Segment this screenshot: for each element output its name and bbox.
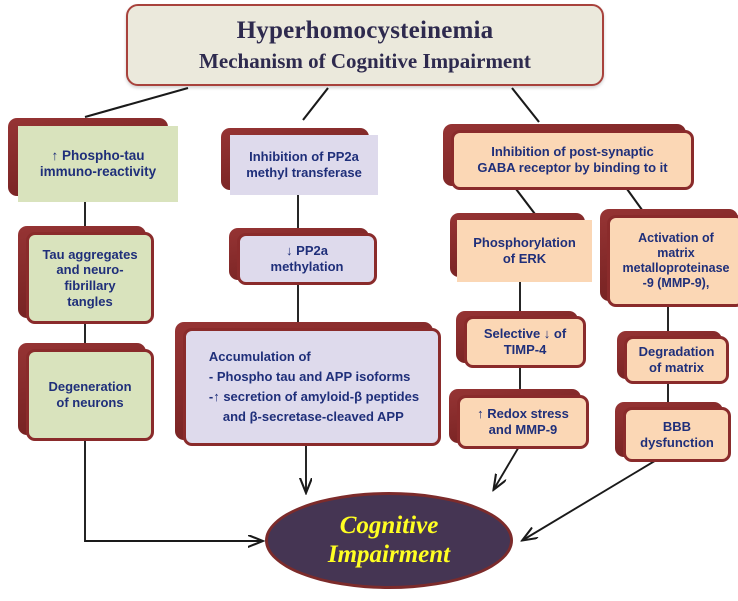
accumulation-head: Accumulation of <box>209 347 419 367</box>
node-text: Activation of matrix metalloproteinase -… <box>623 231 730 291</box>
node-text: Phosphorylation of ERK <box>473 235 576 266</box>
node-phospho-tau-immunoreactivity[interactable]: ↑ Phospho-tau immuno-reactivity <box>18 126 178 202</box>
node-redox-stress-mmp9[interactable]: ↑ Redox stress and MMP-9 <box>457 395 589 449</box>
pp2a-inh-line-2: methyl transferase <box>246 165 362 181</box>
node-text: Degeneration of neurons <box>48 379 131 410</box>
title-line-1: Hyperhomocysteinemia <box>237 17 494 45</box>
mmp9-line-3: metalloproteinase <box>623 261 730 276</box>
erk-line-2: of ERK <box>473 251 576 267</box>
tau-aggregates-line-2: and neuro- <box>42 262 137 278</box>
pp2a-inh-line-1: Inhibition of PP2a <box>246 149 362 165</box>
gaba-line-2: GABA receptor by binding to it <box>477 160 667 176</box>
phospho-tau-line-1: ↑ Phospho-tau <box>40 148 156 164</box>
accumulation-row-3: and β-secretase-cleaved APP <box>209 407 419 427</box>
accumulation-row-1: - Phospho tau and APP isoforms <box>209 367 419 387</box>
node-tau-aggregates[interactable]: Tau aggregates and neuro- fibrillary tan… <box>26 232 154 324</box>
node-text: Inhibition of post-synaptic GABA recepto… <box>477 144 667 175</box>
node-text: Tau aggregates and neuro- fibrillary tan… <box>42 247 137 309</box>
tau-aggregates-line-1: Tau aggregates <box>42 247 137 263</box>
node-inhibition-pp2a-methyl-transferase[interactable]: Inhibition of PP2a methyl transferase <box>230 135 378 195</box>
edge-title-to-tau <box>85 88 188 117</box>
phospho-tau-line-2: immuno-reactivity <box>40 164 156 180</box>
pp2a-meth-line-1: ↓ PP2a <box>271 243 344 259</box>
bbb-line-2: dysfunction <box>640 435 714 451</box>
pp2a-meth-line-2: methylation <box>271 259 344 275</box>
node-phosphorylation-of-erk[interactable]: Phosphorylation of ERK <box>457 220 592 282</box>
timp4-line-2: TIMP-4 <box>484 342 566 358</box>
gaba-line-1: Inhibition of post-synaptic <box>477 144 667 160</box>
node-text: Inhibition of PP2a methyl transferase <box>246 149 362 180</box>
title-line-2: Mechanism of Cognitive Impairment <box>199 50 531 73</box>
node-text: BBB dysfunction <box>640 419 714 450</box>
timp4-line-1: Selective ↓ of <box>484 326 566 342</box>
goal-line-2: Impairment <box>328 541 450 570</box>
node-inhibition-gaba-receptor[interactable]: Inhibition of post-synaptic GABA recepto… <box>451 130 694 190</box>
node-text: Accumulation of - Phospho tau and APP is… <box>195 341 429 434</box>
node-degradation-of-matrix[interactable]: Degradation of matrix <box>624 336 729 384</box>
mmp9-line-2: matrix <box>623 246 730 261</box>
edge-title-to-gaba <box>512 88 539 122</box>
goal-line-1: Cognitive <box>328 512 450 541</box>
bbb-line-1: BBB <box>640 419 714 435</box>
node-activation-mmp9[interactable]: Activation of matrix metalloproteinase -… <box>607 215 738 307</box>
node-text: ↑ Phospho-tau immuno-reactivity <box>40 148 156 180</box>
redox-line-1: ↑ Redox stress <box>477 406 569 422</box>
degeneration-line-2: of neurons <box>48 395 131 411</box>
accumulation-row-2: -↑ secretion of amyloid-β peptides <box>209 387 419 407</box>
node-bbb-dysfunction[interactable]: BBB dysfunction <box>623 407 731 462</box>
diagram-title: Hyperhomocysteinemia Mechanism of Cognit… <box>126 4 604 86</box>
node-accumulation[interactable]: Accumulation of - Phospho tau and APP is… <box>183 328 441 446</box>
node-pp2a-methylation-decrease[interactable]: ↓ PP2a methylation <box>237 233 377 285</box>
mmp9-line-4: -9 (MMP-9), <box>623 276 730 291</box>
degradation-line-1: Degradation <box>639 344 715 360</box>
edge-title-to-pp2a <box>303 88 328 120</box>
degeneration-line-1: Degeneration <box>48 379 131 395</box>
edge-degen-to-goal <box>85 432 262 541</box>
edge-bbb-to-goal <box>523 459 658 540</box>
node-text: Selective ↓ of TIMP-4 <box>484 326 566 357</box>
node-selective-decrease-timp4[interactable]: Selective ↓ of TIMP-4 <box>464 316 586 368</box>
edge-redox-to-goal <box>494 445 520 489</box>
tau-aggregates-line-3: fibrillary <box>42 278 137 294</box>
node-text: ↓ PP2a methylation <box>271 243 344 274</box>
node-cognitive-impairment[interactable]: Cognitive Impairment <box>265 492 513 589</box>
goal-text: Cognitive Impairment <box>328 512 450 570</box>
diagram-canvas: Hyperhomocysteinemia Mechanism of Cognit… <box>0 0 738 601</box>
node-degeneration-of-neurons[interactable]: Degeneration of neurons <box>26 349 154 441</box>
mmp9-line-1: Activation of <box>623 231 730 246</box>
degradation-line-2: of matrix <box>639 360 715 376</box>
tau-aggregates-line-4: tangles <box>42 294 137 310</box>
erk-line-1: Phosphorylation <box>473 235 576 251</box>
node-text: Degradation of matrix <box>639 344 715 375</box>
node-text: ↑ Redox stress and MMP-9 <box>477 406 569 437</box>
redox-line-2: and MMP-9 <box>477 422 569 438</box>
